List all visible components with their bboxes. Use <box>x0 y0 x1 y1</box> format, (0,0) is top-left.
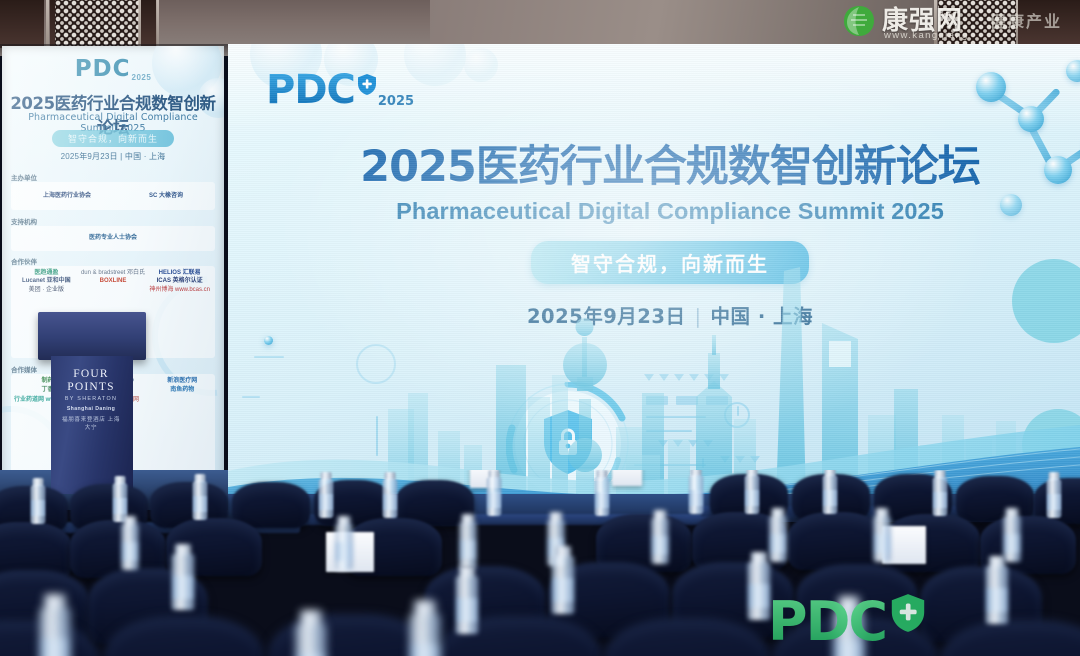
watermark-tagline: 健康产业 <box>990 8 1062 32</box>
water-bottle-icon <box>28 478 48 524</box>
water-bottle-icon <box>982 556 1012 624</box>
shield-cross-icon <box>890 592 926 639</box>
water-bottle-icon <box>484 470 504 516</box>
water-bottle-icon <box>380 472 400 518</box>
media-logo: 南鱼药物 <box>153 387 212 393</box>
water-bottle-icon <box>404 600 446 656</box>
partner-logo: Lucanet 亚和中国 <box>14 278 79 284</box>
media-logo: 新浪医疗网 <box>153 378 212 384</box>
water-bottle-icon <box>168 544 198 610</box>
partner-logo: 医药专业人士协会 <box>89 235 137 241</box>
podium-brand-line2: POINTS <box>60 381 122 394</box>
poster-logo-year: 2025 <box>132 73 152 82</box>
water-bottle-icon <box>34 594 76 656</box>
partner-logo: 医趋通盈 <box>14 270 79 276</box>
water-bottle-icon <box>452 566 482 634</box>
partner-logo: dun & bradstreet 邓白氏 <box>81 270 146 276</box>
water-bottle-icon <box>592 470 612 516</box>
water-bottle-icon <box>118 516 142 570</box>
pdc-logo-year: 2025 <box>378 94 414 109</box>
partner-logo: SC 大橡咨询 <box>149 193 183 199</box>
poster-section-box-1: 医药专业人士协会 <box>11 226 215 251</box>
event-title-cn: 2025医药行业合规数智创新论坛 <box>342 144 998 190</box>
water-bottle-icon <box>1044 472 1064 518</box>
poster-logo-word: PDC <box>75 56 131 82</box>
water-bottle-icon <box>456 514 480 568</box>
partner-logo: 美团 · 企业版 <box>14 287 79 293</box>
podium-brand-line1: FOUR <box>60 368 122 381</box>
poster-section-heading-0: 主办单位 <box>11 172 37 182</box>
speaker-podium: FOUR POINTS BY SHERATON Shanghai Daning … <box>38 312 146 494</box>
event-title-en: Pharmaceutical Digital Compliance Summit… <box>342 198 998 225</box>
partner-logo: 上海医药行业协会 <box>43 193 91 199</box>
podium-location-cn: 福朋喜来登酒店 上海大宁 <box>60 415 122 431</box>
water-bottle-icon <box>820 470 840 514</box>
watermark-site-url: www.kangqiang <box>884 30 969 41</box>
water-bottle-icon <box>290 610 332 656</box>
water-bottle-icon <box>190 474 210 520</box>
led-stage-screen: PDC 2025 2025医药行业合规数智创新论坛 Pharmaceutical… <box>228 44 1080 499</box>
water-bottle-icon <box>686 470 706 514</box>
pdc-watermark-bottom: PDC <box>768 592 926 651</box>
podium-brand-by: BY SHERATON <box>60 396 122 402</box>
pdc-logo-word: PDC <box>266 70 355 110</box>
partner-logo: ICAS 英格尔认证 <box>147 278 212 284</box>
shanghai-skyline-icon <box>228 249 1080 499</box>
poster-date-line: 2025年9月23日 | 中国 · 上海 <box>2 151 224 162</box>
poster-section-heading-1: 支持机构 <box>11 216 37 226</box>
leaf-logo-icon <box>842 4 876 38</box>
conference-stage-photo: PDC2025 2025医药行业合规数智创新论坛 Pharmaceutical … <box>0 0 1080 656</box>
bubble-decor-icon <box>464 48 498 82</box>
poster-section-box-0: 上海医药行业协会 SC 大橡咨询 <box>11 182 215 210</box>
water-bottle-icon <box>742 470 762 514</box>
pdc-watermark-word: PDC <box>768 595 886 649</box>
shield-cross-icon <box>357 73 377 101</box>
partner-logo: BOXLINE <box>81 278 146 284</box>
name-placard <box>612 470 642 486</box>
partner-logo: HELIOS 汇联易 <box>147 270 212 276</box>
water-bottle-icon <box>332 516 356 570</box>
water-bottle-icon <box>1000 508 1024 562</box>
podium-brand-plate: FOUR POINTS BY SHERATON Shanghai Daning … <box>60 368 122 426</box>
pdc-logo: PDC 2025 <box>266 70 414 110</box>
poster-logo: PDC2025 <box>2 56 224 82</box>
water-bottle-icon <box>316 472 336 518</box>
poster-slogan: 智守合规，向新而生 <box>52 130 174 147</box>
water-bottle-icon <box>870 508 894 562</box>
water-bottle-icon <box>648 510 672 564</box>
poster-section-heading-3: 合作媒体 <box>11 364 37 374</box>
water-bottle-icon <box>930 470 950 516</box>
partner-logo: 神州博海 www.bcas.cn <box>147 287 212 293</box>
poster-section-heading-2: 合作伙伴 <box>11 256 37 266</box>
podium-location-en: Shanghai Daning <box>60 406 122 412</box>
water-bottle-icon <box>548 546 578 614</box>
